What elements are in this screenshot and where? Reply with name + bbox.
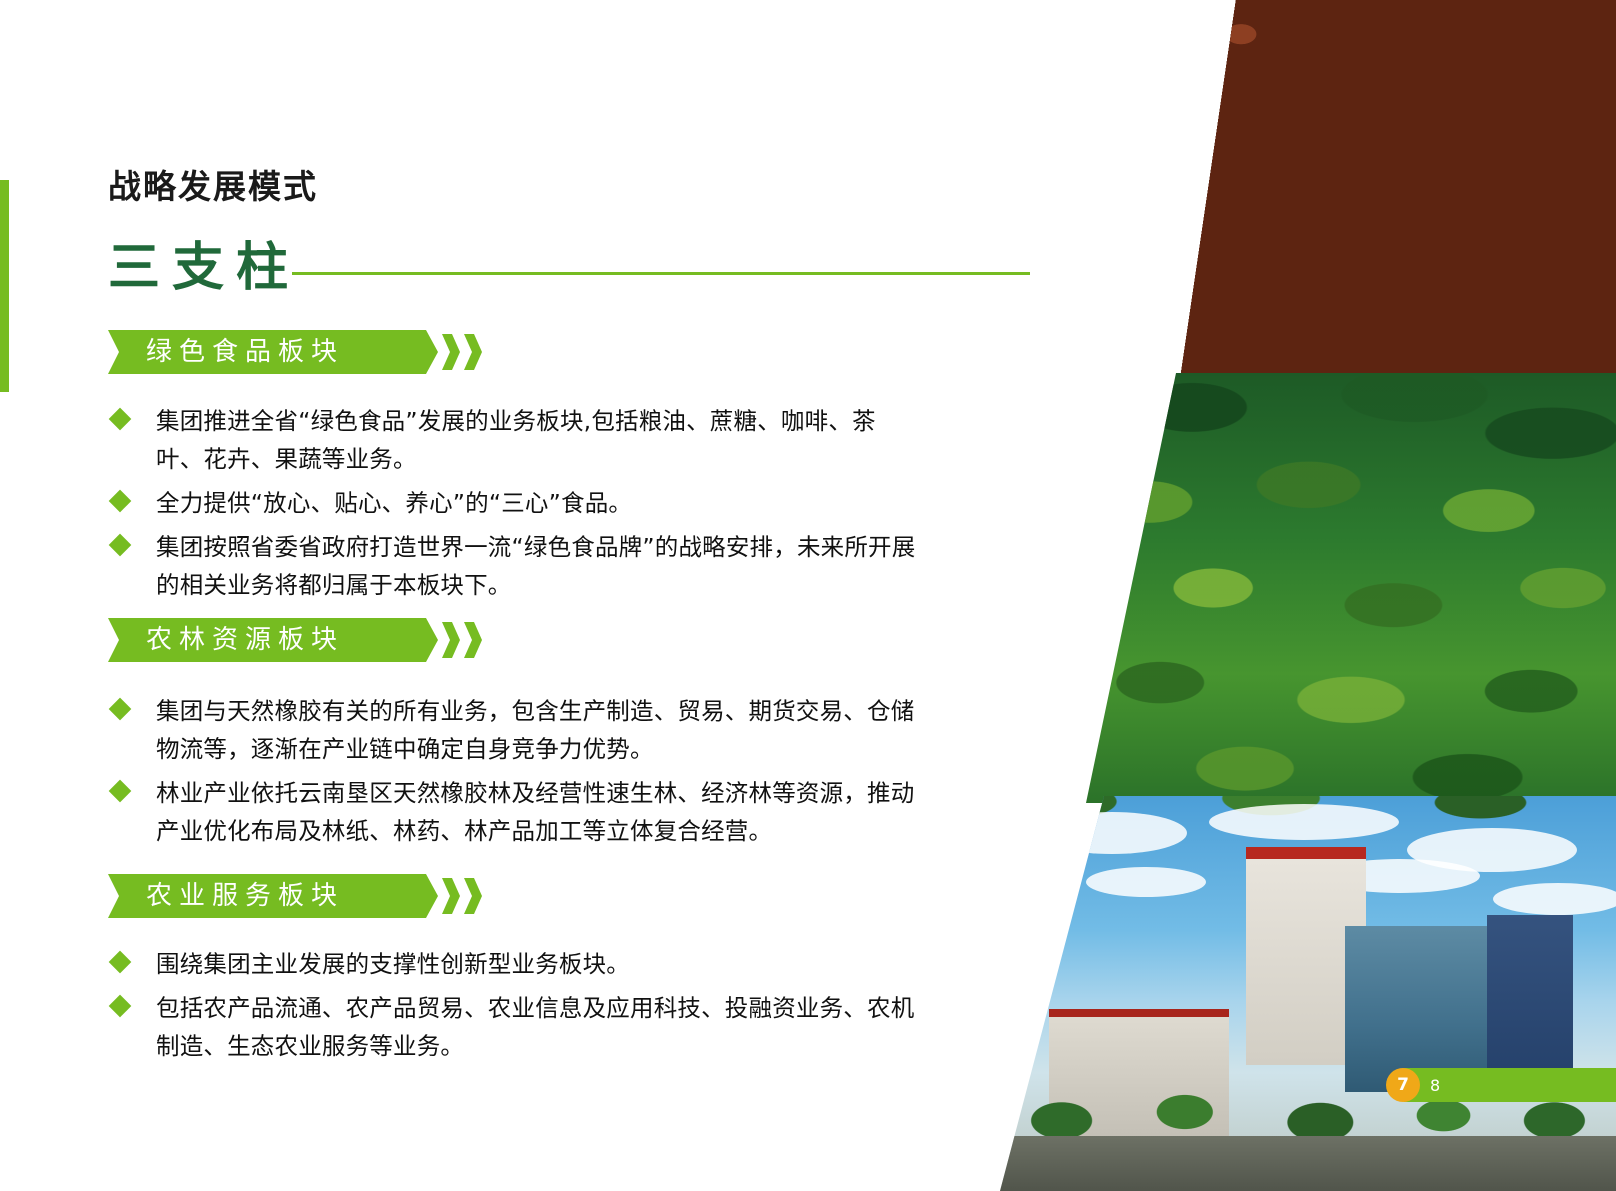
street-ground bbox=[1000, 1136, 1616, 1191]
list-item-text: 集团按照省委省政府打造世界一流“绿色食品牌”的战略安排，未来所开展的相关业务将都… bbox=[156, 533, 915, 599]
page-number-right: 8 bbox=[1430, 1076, 1440, 1095]
diamond-bullet-icon bbox=[109, 698, 132, 721]
cloud-shape bbox=[1209, 804, 1399, 840]
list-item-text: 集团与天然橡胶有关的所有业务，包含生产制造、贸易、期货交易、仓储物流等，逐渐在产… bbox=[156, 697, 914, 763]
page-number-badge: 7 8 bbox=[1386, 1068, 1440, 1102]
diamond-bullet-icon bbox=[109, 995, 132, 1018]
photo-coffee-beans bbox=[1180, 0, 1616, 380]
coffee-beans-image bbox=[1180, 0, 1616, 380]
forest-image bbox=[1086, 373, 1616, 803]
diamond-bullet-icon bbox=[109, 408, 132, 431]
list-item: 集团推进全省“绿色食品”发展的业务板块,包括粮油、蔗糖、咖啡、茶叶、花卉、果蔬等… bbox=[108, 402, 918, 478]
page-kicker: 战略发展模式 bbox=[108, 160, 318, 208]
list-item-text: 全力提供“放心、贴心、养心”的“三心”食品。 bbox=[156, 489, 632, 517]
photo-city-building bbox=[1000, 796, 1616, 1191]
chevron-right-icon bbox=[442, 334, 460, 370]
chevron-right-icon bbox=[442, 878, 460, 914]
brochure-page: 战略发展模式 三支柱 绿色食品板块 集团推进全省“绿色食品”发展的业务板块,包括… bbox=[0, 0, 1616, 1191]
list-item: 围绕集团主业发展的支撑性创新型业务板块。 bbox=[108, 945, 918, 983]
list-item: 集团与天然橡胶有关的所有业务，包含生产制造、贸易、期货交易、仓储物流等，逐渐在产… bbox=[108, 692, 918, 768]
page-title: 三支柱 bbox=[108, 225, 300, 300]
diamond-bullet-icon bbox=[109, 534, 132, 557]
list-item-text: 林业产业依托云南垦区天然橡胶林及经营性速生林、经济林等资源，推动产业优化布局及林… bbox=[156, 779, 914, 845]
glass-facade-secondary bbox=[1487, 915, 1573, 1089]
cloud-shape bbox=[1037, 812, 1187, 854]
bullet-list-agri-service: 围绕集团主业发展的支撑性创新型业务板块。 包括农产品流通、农产品贸易、农业信息及… bbox=[108, 945, 918, 1071]
chevron-right-icon bbox=[464, 878, 482, 914]
chevron-right-icon bbox=[464, 334, 482, 370]
list-item: 集团按照省委省政府打造世界一流“绿色食品牌”的战略安排，未来所开展的相关业务将都… bbox=[108, 528, 918, 604]
chevron-right-icon bbox=[442, 622, 460, 658]
cloud-shape bbox=[1086, 867, 1206, 897]
list-item-text: 包括农产品流通、农产品贸易、农业信息及应用科技、投融资业务、农机制造、生态农业服… bbox=[156, 994, 914, 1060]
bullet-list-agro-forestry: 集团与天然橡胶有关的所有业务，包含生产制造、贸易、期货交易、仓储物流等，逐渐在产… bbox=[108, 692, 918, 856]
photo-forest bbox=[1086, 373, 1616, 803]
banner-label: 绿色食品板块 bbox=[146, 330, 344, 374]
list-item: 包括农产品流通、农产品贸易、农业信息及应用科技、投融资业务、农机制造、生态农业服… bbox=[108, 989, 918, 1065]
page-number-left: 7 bbox=[1386, 1068, 1420, 1102]
cloud-shape bbox=[1493, 883, 1616, 915]
chevron-right-icon bbox=[464, 622, 482, 658]
city-building-image bbox=[1000, 796, 1616, 1191]
bullet-list-green-food: 集团推进全省“绿色食品”发展的业务板块,包括粮油、蔗糖、咖啡、茶叶、花卉、果蔬等… bbox=[108, 402, 918, 610]
diamond-bullet-icon bbox=[109, 951, 132, 974]
diamond-bullet-icon bbox=[109, 780, 132, 803]
list-item-text: 集团推进全省“绿色食品”发展的业务板块,包括粮油、蔗糖、咖啡、茶叶、花卉、果蔬等… bbox=[156, 407, 876, 473]
photo-panel-stack: 绿色食品 农林资源 农业服务 bbox=[900, 0, 1616, 1191]
banner-label: 农业服务板块 bbox=[146, 874, 344, 918]
left-content-column: 战略发展模式 三支柱 绿色食品板块 集团推进全省“绿色食品”发展的业务板块,包括… bbox=[0, 0, 960, 1191]
list-item: 全力提供“放心、贴心、养心”的“三心”食品。 bbox=[108, 484, 918, 522]
list-item: 林业产业依托云南垦区天然橡胶林及经营性速生林、经济林等资源，推动产业优化布局及林… bbox=[108, 774, 918, 850]
list-item-text: 围绕集团主业发展的支撑性创新型业务板块。 bbox=[156, 950, 630, 978]
banner-label: 农林资源板块 bbox=[146, 618, 344, 662]
diamond-bullet-icon bbox=[109, 490, 132, 513]
